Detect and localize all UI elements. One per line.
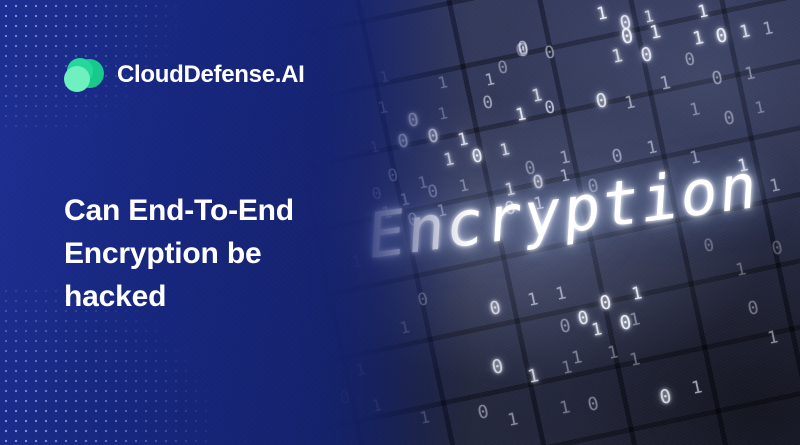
binary-digit: 1 <box>734 261 748 280</box>
binary-digit: 1 <box>743 65 757 84</box>
binary-digit: 1 <box>623 94 637 113</box>
binary-digit: 0 <box>543 44 557 63</box>
binary-digit: 0 <box>714 26 729 47</box>
binary-digit: 0 <box>746 299 760 319</box>
binary-digit: 1 <box>610 47 624 67</box>
binary-digit: 1 <box>766 329 780 348</box>
binary-digit: 0 <box>710 69 724 89</box>
binary-digit: 0 <box>496 59 510 78</box>
binary-digit: 1 <box>690 379 704 398</box>
binary-digit: 0 <box>476 403 490 423</box>
binary-digit: 1 <box>570 349 584 368</box>
binary-digit: 1 <box>696 3 710 22</box>
binary-digit: 1 <box>506 411 520 430</box>
binary-digit: 0 <box>586 395 600 415</box>
binary-digit: 0 <box>576 309 590 329</box>
headline-line-2: Encryption be <box>64 232 364 275</box>
binary-digit: 1 <box>590 321 604 340</box>
binary-digit: 1 <box>514 106 528 125</box>
binary-digit: 1 <box>628 311 642 330</box>
hero-banner: 1011001101110001100101010101110011011001… <box>0 0 800 445</box>
binary-digit: 1 <box>554 285 568 304</box>
binary-digit: 1 <box>526 291 540 310</box>
binary-digit: 0 <box>470 147 484 167</box>
binary-digit: 1 <box>483 71 496 89</box>
binary-digit: 0 <box>543 99 557 118</box>
binary-digit: 0 <box>683 51 697 70</box>
binary-digit: 1 <box>530 87 544 106</box>
binary-digit: 0 <box>702 237 716 256</box>
binary-digit: 1 <box>628 351 642 370</box>
binary-digit: 1 <box>738 23 752 42</box>
page-title: Can End-To-End Encryption be hacked <box>64 189 364 318</box>
binary-digit: 1 <box>595 5 609 24</box>
headline-line-3: hacked <box>64 275 364 318</box>
binary-digit: 0 <box>598 293 613 314</box>
binary-digit: 1 <box>526 367 540 387</box>
binary-digit: 1 <box>648 23 662 43</box>
binary-digit: 1 <box>606 344 620 363</box>
binary-digit: 1 <box>753 99 766 117</box>
binary-digit: 0 <box>488 299 502 319</box>
binary-digit: 1 <box>688 101 702 120</box>
binary-digit: 0 <box>658 387 673 408</box>
binary-digit: 0 <box>481 94 495 113</box>
binary-digit: 1 <box>498 141 511 159</box>
binary-digit: 1 <box>558 399 572 418</box>
binary-digit: 0 <box>722 109 736 129</box>
binary-digit: 1 <box>768 177 782 196</box>
binary-digit: 1 <box>645 139 659 158</box>
cloud-logo-icon <box>64 58 104 92</box>
binary-digit: 0 <box>558 317 572 337</box>
binary-digit: 0 <box>490 357 505 378</box>
binary-digit: 1 <box>691 29 705 49</box>
brand-name: CloudDefense.AI <box>117 61 305 89</box>
binary-digit: 1 <box>658 74 672 94</box>
binary-digit: 0 <box>610 147 624 167</box>
binary-digit: 0 <box>639 45 654 66</box>
headline-line-1: Can End-To-End <box>64 189 364 232</box>
cloud-logo-front-circle <box>64 66 90 92</box>
binary-digit: 1 <box>761 20 775 39</box>
binary-digit: 0 <box>770 239 784 259</box>
binary-digit: 1 <box>630 285 644 304</box>
binary-digit: 0 <box>594 91 609 112</box>
brand-lockup[interactable]: CloudDefense.AI <box>64 58 305 92</box>
